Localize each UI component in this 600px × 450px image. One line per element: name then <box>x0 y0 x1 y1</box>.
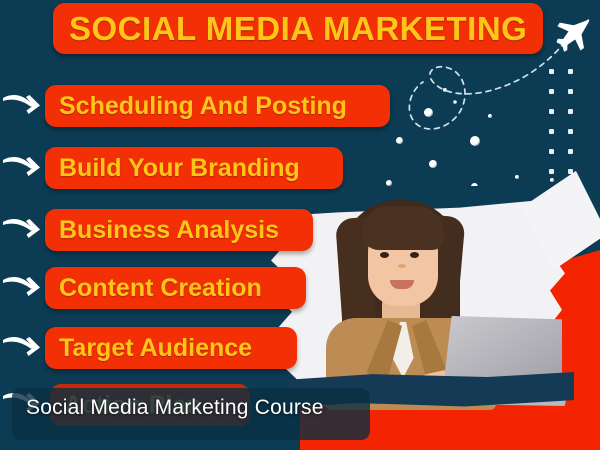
bubble-decoration <box>550 178 554 182</box>
bubble-decoration <box>396 137 403 144</box>
arrow-business-analysis-icon <box>2 214 46 246</box>
feature-pill-label: Business Analysis <box>59 216 279 245</box>
banner-title-text: SOCIAL MEDIA MARKETING <box>69 10 527 48</box>
bubble-decoration <box>488 114 492 118</box>
arrow-scheduling-and-posting-icon <box>2 90 46 122</box>
bubble-decoration <box>424 108 433 117</box>
bubble-decoration <box>429 160 437 168</box>
feature-pill-label: Scheduling And Posting <box>59 92 347 121</box>
caption-text: Social Media Marketing Course <box>26 396 324 420</box>
arrow-target-audience-icon <box>2 332 46 364</box>
arrow-content-creation-icon <box>2 272 46 304</box>
feature-pill[interactable]: Target Audience <box>45 327 297 369</box>
bubble-decoration <box>443 88 447 92</box>
feature-pill[interactable]: Scheduling And Posting <box>45 85 390 127</box>
woman-with-laptop-photo <box>268 186 600 416</box>
dot-grid-decoration <box>549 69 583 179</box>
banner-title: SOCIAL MEDIA MARKETING <box>53 3 543 54</box>
social-media-marketing-banner: SOCIAL MEDIA MARKETING Scheduling And Po… <box>0 0 600 450</box>
arrow-build-your-branding-icon <box>2 152 46 184</box>
feature-pill-label: Build Your Branding <box>59 154 300 183</box>
bubble-decoration <box>515 175 519 179</box>
feature-pill[interactable]: Business Analysis <box>45 209 313 251</box>
airplane-icon <box>545 14 591 54</box>
feature-pill[interactable]: Content Creation <box>45 267 306 309</box>
feature-pill[interactable]: Build Your Branding <box>45 147 343 189</box>
feature-pill-label: Content Creation <box>59 274 262 303</box>
feature-pill-label: Target Audience <box>59 334 252 363</box>
bubble-decoration <box>470 136 480 146</box>
